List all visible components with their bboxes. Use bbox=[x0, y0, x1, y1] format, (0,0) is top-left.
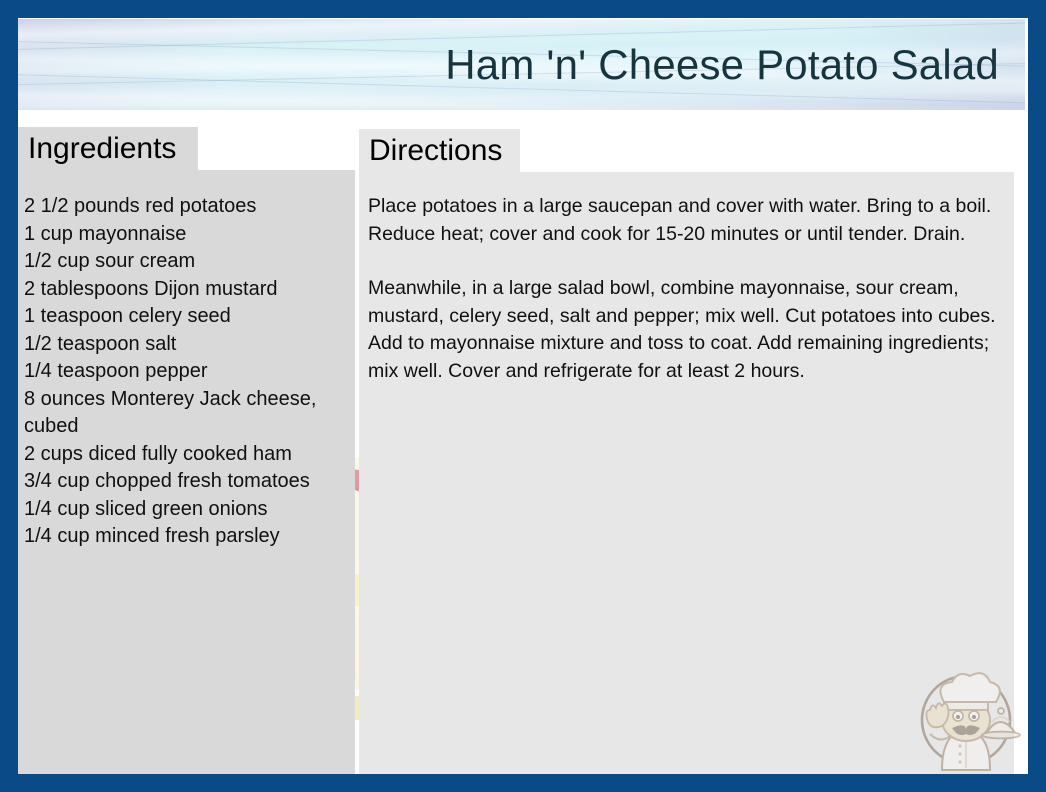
directions-heading: Directions bbox=[369, 136, 502, 166]
list-item: 1/4 cup minced fresh parsley bbox=[24, 523, 346, 551]
directions-paragraph: Place potatoes in a large saucepan and c… bbox=[368, 193, 1014, 248]
list-item: 2 1/2 pounds red potatoes bbox=[24, 193, 346, 221]
frame-top-border bbox=[0, 0, 1046, 18]
list-item: 2 tablespoons Dijon mustard bbox=[24, 276, 346, 304]
list-item: 1/2 cup sour cream bbox=[24, 248, 346, 276]
list-item: 3/4 cup chopped fresh tomatoes bbox=[24, 468, 346, 496]
list-item: 1/4 teaspoon pepper bbox=[24, 358, 346, 386]
directions-tab: Directions bbox=[359, 129, 520, 172]
frame-left-border bbox=[0, 0, 18, 792]
list-item: 8 ounces Monterey Jack cheese, cubed bbox=[24, 386, 346, 441]
list-item: 2 cups diced fully cooked ham bbox=[24, 441, 346, 469]
list-item: 1/4 cup sliced green onions bbox=[24, 496, 346, 524]
page-title: Ham 'n' Cheese Potato Salad bbox=[445, 41, 999, 89]
title-banner: Ham 'n' Cheese Potato Salad bbox=[18, 19, 1025, 110]
ingredients-tab: Ingredients bbox=[18, 127, 198, 170]
frame-bottom-border bbox=[0, 774, 1046, 792]
ingredients-list: 2 1/2 pounds red potatoes 1 cup mayonnai… bbox=[24, 193, 346, 551]
list-item: 1 cup mayonnaise bbox=[24, 221, 346, 249]
list-item: 1 teaspoon celery seed bbox=[24, 303, 346, 331]
frame-right-border bbox=[1028, 0, 1046, 792]
ingredients-heading: Ingredients bbox=[28, 134, 176, 164]
directions-text: Place potatoes in a large saucepan and c… bbox=[368, 193, 1014, 412]
recipe-slide: Ham 'n' Cheese Potato Salad bbox=[0, 0, 1046, 792]
list-item: 1/2 teaspoon salt bbox=[24, 331, 346, 359]
directions-paragraph: Meanwhile, in a large salad bowl, combin… bbox=[368, 275, 1014, 385]
